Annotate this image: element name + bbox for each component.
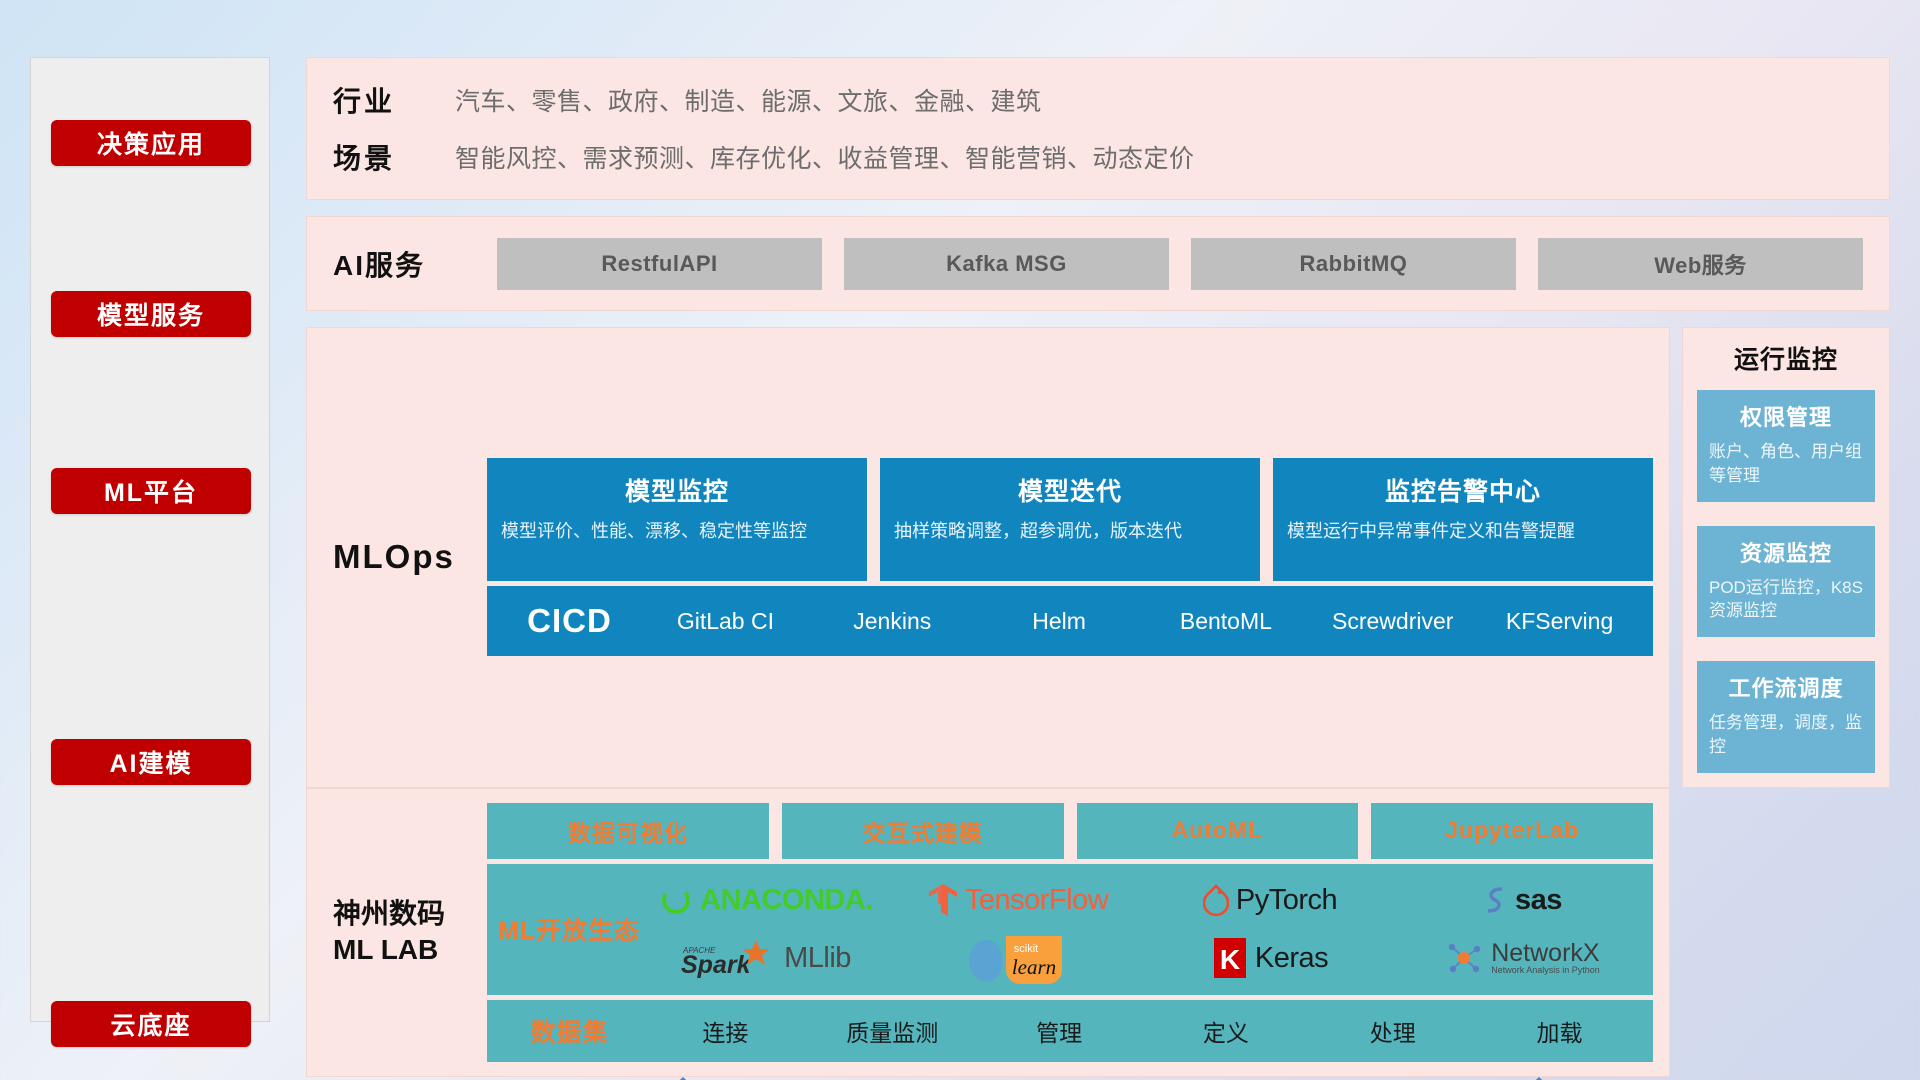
stage-chip-model-service[interactable]: 模型服务 bbox=[51, 291, 251, 337]
card-title: 工作流调度 bbox=[1709, 671, 1863, 703]
modeling-tool-chip-data-viz[interactable]: 数据可视化 bbox=[487, 803, 769, 859]
card-title: 监控告警中心 bbox=[1287, 472, 1639, 508]
mllib-wordmark: MLlib bbox=[784, 942, 851, 975]
keras-wordmark: Keras bbox=[1255, 942, 1328, 975]
networkx-logo: NetworkX Network Analysis in Python bbox=[1444, 938, 1600, 978]
ai-service-chip-list: RestfulAPI Kafka MSG RabbitMQ Web服务 bbox=[485, 238, 1863, 290]
mlops-label: MLOps bbox=[307, 538, 487, 576]
cicd-tool[interactable]: KFServing bbox=[1476, 609, 1643, 634]
stage-chip-ai-modeling[interactable]: AI建模 bbox=[51, 739, 251, 785]
modeling-tool-chip-interactive[interactable]: 交互式建模 bbox=[782, 803, 1064, 859]
ai-service-chip[interactable]: RabbitMQ bbox=[1191, 238, 1516, 290]
card-desc: 任务管理，调度，监控 bbox=[1709, 711, 1863, 759]
card-desc: 模型运行中异常事件定义和告警提醒 bbox=[1287, 519, 1639, 545]
cicd-title: CICD bbox=[497, 602, 642, 640]
monitor-card-permission[interactable]: 权限管理 账户、角色、用户组等管理 bbox=[1697, 390, 1875, 502]
networkx-tagline: Network Analysis in Python bbox=[1491, 966, 1600, 975]
ai-service-chip[interactable]: RestfulAPI bbox=[497, 238, 822, 290]
keras-icon: K bbox=[1212, 936, 1248, 980]
dataset-capability-list: 连接 质量监测 管理 定义 处理 加载 bbox=[642, 1014, 1643, 1048]
cicd-tool[interactable]: Helm bbox=[976, 609, 1143, 634]
ai-service-chip[interactable]: Kafka MSG bbox=[844, 238, 1169, 290]
anaconda-logo: ANACONDA. bbox=[659, 883, 873, 917]
dataset-strip: 数据集 连接 质量监测 管理 定义 处理 加载 bbox=[487, 1000, 1653, 1062]
dataset-capability[interactable]: 处理 bbox=[1309, 1014, 1476, 1048]
industry-scenario-grid: 行业 汽车、零售、政府、制造、能源、文旅、金融、建筑 场景 智能风控、需求预测、… bbox=[333, 80, 1889, 177]
ai-service-label: AI服务 bbox=[333, 244, 485, 284]
ml-lab-label-line1: 神州数码 bbox=[333, 896, 487, 932]
stage-chip-decision-app[interactable]: 决策应用 bbox=[51, 120, 251, 166]
pytorch-icon bbox=[1203, 883, 1229, 917]
scenario-key: 场景 bbox=[333, 137, 455, 177]
scikit-learn-logo: scikit learn bbox=[964, 930, 1072, 986]
runtime-monitor-band: 运行监控 权限管理 账户、角色、用户组等管理 资源监控 POD运行监控，K8S资… bbox=[1682, 327, 1890, 788]
stage-chip-cloud-foundation[interactable]: 云底座 bbox=[51, 1001, 251, 1047]
sas-wordmark: sas bbox=[1515, 884, 1562, 917]
svg-text:K: K bbox=[1220, 944, 1240, 975]
runtime-monitor-card-list: 权限管理 账户、角色、用户组等管理 资源监控 POD运行监控，K8S资源监控 工… bbox=[1697, 390, 1875, 773]
mlops-card-model-iteration[interactable]: 模型迭代 抽样策略调整，超参调优，版本迭代 bbox=[880, 458, 1260, 581]
scenario-value: 智能风控、需求预测、库存优化、收益管理、智能营销、动态定价 bbox=[455, 139, 1195, 175]
sas-logo: sas bbox=[1482, 884, 1562, 917]
ml-lab-label-line2: ML LAB bbox=[333, 932, 487, 968]
keras-logo: K Keras bbox=[1212, 936, 1328, 980]
ml-open-ecosystem-strip: ML开放生态 ANACONDA. bbox=[487, 864, 1653, 995]
runtime-monitor-title: 运行监控 bbox=[1697, 340, 1875, 376]
mlops-card-list: 模型监控 模型评价、性能、漂移、稳定性等监控 模型迭代 抽样策略调整，超参调优，… bbox=[487, 458, 1653, 581]
modeling-tool-chip-automl[interactable]: AutoML bbox=[1077, 803, 1359, 859]
mlops-card-alert-center[interactable]: 监控告警中心 模型运行中异常事件定义和告警提醒 bbox=[1273, 458, 1653, 581]
dataset-capability[interactable]: 加载 bbox=[1476, 1014, 1643, 1048]
anaconda-icon bbox=[659, 883, 693, 917]
card-title: 资源监控 bbox=[1709, 536, 1863, 568]
cicd-tool[interactable]: GitLab CI bbox=[642, 609, 809, 634]
card-desc: POD运行监控，K8S资源监控 bbox=[1709, 576, 1863, 624]
ecosystem-logo-grid: ANACONDA. TensorFlow bbox=[643, 872, 1645, 986]
industry-value: 汽车、零售、政府、制造、能源、文旅、金融、建筑 bbox=[455, 82, 1042, 118]
ai-modeling-row: 神州数码 ML LAB 数据可视化 交互式建模 AutoML JupyterLa… bbox=[306, 788, 1890, 1077]
left-stage-rail: 决策应用 模型服务 ML平台 AI建模 云底座 bbox=[30, 57, 270, 1022]
pytorch-logo: PyTorch bbox=[1203, 883, 1337, 917]
cicd-strip: CICD GitLab CI Jenkins Helm BentoML Scre… bbox=[487, 586, 1653, 656]
anaconda-wordmark: ANACONDA. bbox=[700, 884, 873, 917]
card-desc: 模型评价、性能、漂移、稳定性等监控 bbox=[501, 519, 853, 545]
dataset-capability[interactable]: 质量监测 bbox=[809, 1014, 976, 1048]
networkx-wordmark: NetworkX bbox=[1491, 941, 1600, 966]
ai-service-band: AI服务 RestfulAPI Kafka MSG RabbitMQ Web服务 bbox=[306, 216, 1890, 311]
dataset-capability[interactable]: 定义 bbox=[1142, 1014, 1309, 1048]
card-desc: 账户、角色、用户组等管理 bbox=[1709, 440, 1863, 488]
stage-chip-label: AI建模 bbox=[109, 744, 192, 780]
modeling-row-spacer bbox=[1682, 788, 1890, 1077]
mlops-content: 模型监控 模型评价、性能、漂移、稳定性等监控 模型迭代 抽样策略调整，超参调优，… bbox=[487, 458, 1653, 656]
card-title: 模型监控 bbox=[501, 472, 853, 508]
spark-icon: APACHE Spark bbox=[681, 938, 777, 978]
card-title: 模型迭代 bbox=[894, 472, 1246, 508]
ml-open-ecosystem-label: ML开放生态 bbox=[495, 911, 643, 947]
stage-chip-label: 云底座 bbox=[110, 1006, 191, 1042]
svg-text:Spark: Spark bbox=[681, 951, 752, 978]
mlops-card-model-monitoring[interactable]: 模型监控 模型评价、性能、漂移、稳定性等监控 bbox=[487, 458, 867, 581]
svg-text:scikit: scikit bbox=[1014, 943, 1038, 955]
cicd-tool[interactable]: Screwdriver bbox=[1309, 609, 1476, 634]
tensorflow-wordmark: TensorFlow bbox=[965, 884, 1108, 917]
pytorch-wordmark: PyTorch bbox=[1236, 884, 1337, 917]
modeling-tool-chip-jupyterlab[interactable]: JupyterLab bbox=[1371, 803, 1653, 859]
networkx-icon bbox=[1444, 938, 1484, 978]
ml-lab-label: 神州数码 ML LAB bbox=[307, 896, 487, 969]
monitor-card-resource[interactable]: 资源监控 POD运行监控，K8S资源监控 bbox=[1697, 526, 1875, 638]
dataset-title: 数据集 bbox=[497, 1013, 642, 1049]
svg-text:learn: learn bbox=[1012, 955, 1056, 979]
dataset-capability[interactable]: 管理 bbox=[976, 1014, 1143, 1048]
ai-modeling-content: 数据可视化 交互式建模 AutoML JupyterLab ML开放生态 ANA… bbox=[487, 803, 1653, 1062]
industry-row: 行业 汽车、零售、政府、制造、能源、文旅、金融、建筑 bbox=[333, 80, 1889, 120]
mlops-band: MLOps 模型监控 模型评价、性能、漂移、稳定性等监控 模型迭代 抽样策略调整… bbox=[306, 327, 1670, 788]
card-title: 权限管理 bbox=[1709, 400, 1863, 432]
industry-scenario-band: 行业 汽车、零售、政府、制造、能源、文旅、金融、建筑 场景 智能风控、需求预测、… bbox=[306, 57, 1890, 200]
dataset-capability[interactable]: 连接 bbox=[642, 1014, 809, 1048]
ai-modeling-band: 神州数码 ML LAB 数据可视化 交互式建模 AutoML JupyterLa… bbox=[306, 788, 1670, 1077]
cicd-tool-list: GitLab CI Jenkins Helm BentoML Screwdriv… bbox=[642, 609, 1643, 634]
card-desc: 抽样策略调整，超参调优，版本迭代 bbox=[894, 519, 1246, 545]
spark-mllib-logo: APACHE Spark MLlib bbox=[681, 938, 851, 978]
scikit-learn-icon: scikit learn bbox=[964, 930, 1072, 986]
monitor-card-workflow[interactable]: 工作流调度 任务管理，调度，监控 bbox=[1697, 661, 1875, 773]
tensorflow-icon bbox=[928, 883, 958, 917]
industry-key: 行业 bbox=[333, 80, 455, 120]
architecture-main-column: 行业 汽车、零售、政府、制造、能源、文旅、金融、建筑 场景 智能风控、需求预测、… bbox=[306, 57, 1890, 1080]
stage-chip-label: 模型服务 bbox=[97, 296, 205, 332]
sas-icon bbox=[1482, 884, 1508, 916]
mlops-monitor-row: MLOps 模型监控 模型评价、性能、漂移、稳定性等监控 模型迭代 抽样策略调整… bbox=[306, 327, 1890, 788]
ai-service-chip[interactable]: Web服务 bbox=[1538, 238, 1863, 290]
stage-chip-ml-platform[interactable]: ML平台 bbox=[51, 468, 251, 514]
scenario-row: 场景 智能风控、需求预测、库存优化、收益管理、智能营销、动态定价 bbox=[333, 137, 1889, 177]
stage-chip-label: ML平台 bbox=[104, 473, 198, 509]
stage-chip-label: 决策应用 bbox=[97, 125, 205, 161]
tensorflow-logo: TensorFlow bbox=[928, 883, 1108, 917]
cicd-tool[interactable]: Jenkins bbox=[809, 609, 976, 634]
modeling-tool-chip-list: 数据可视化 交互式建模 AutoML JupyterLab bbox=[487, 803, 1653, 859]
cicd-tool[interactable]: BentoML bbox=[1142, 609, 1309, 634]
